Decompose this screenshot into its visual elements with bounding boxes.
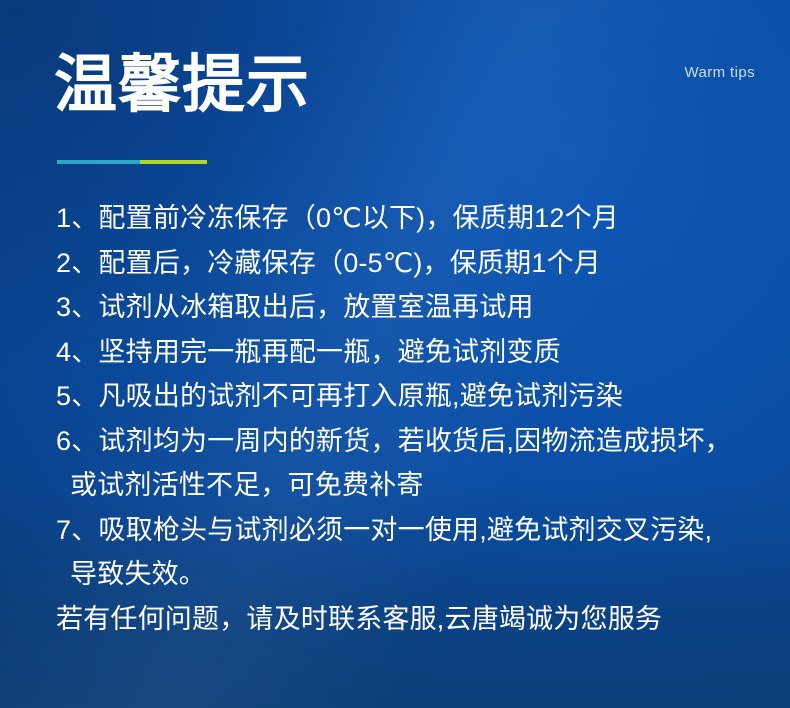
warm-tips-poster: 温馨提示 Warm tips 1、配置前冷冻保存（0℃以下)，保质期12个月 2… [0, 0, 790, 708]
tip-line: 1、配置前冷冻保存（0℃以下)，保质期12个月 [56, 196, 768, 241]
tips-list: 1、配置前冷冻保存（0℃以下)，保质期12个月 2、配置后，冷藏保存（0-5℃)… [56, 196, 768, 641]
tip-line-closing: 若有任何问题，请及时联系客服,云唐竭诚为您服务 [56, 597, 768, 642]
page-title: 温馨提示 [54, 52, 310, 118]
title-divider [57, 160, 207, 164]
divider-segment-teal [57, 160, 140, 164]
tip-line: 2、配置后，冷藏保存（0-5℃)，保质期1个月 [56, 241, 768, 286]
subtitle-warm-tips: Warm tips [684, 64, 755, 81]
tip-line: 5、凡吸出的试剂不可再打入原瓶,避免试剂污染 [56, 374, 768, 419]
tip-line-continuation: 或试剂活性不足，可免费补寄 [56, 463, 768, 508]
tip-line: 4、坚持用完一瓶再配一瓶，避免试剂变质 [56, 330, 768, 375]
tip-line-continuation: 导致失效。 [56, 552, 768, 597]
tip-line: 6、试剂均为一周内的新货，若收货后,因物流造成损坏， [56, 419, 768, 464]
poster-content: 温馨提示 Warm tips 1、配置前冷冻保存（0℃以下)，保质期12个月 2… [0, 0, 790, 708]
tip-line: 7、吸取枪头与试剂必须一对一使用,避免试剂交叉污染, [56, 508, 768, 553]
divider-segment-green [140, 160, 208, 164]
tip-line: 3、试剂从冰箱取出后，放置室温再试用 [56, 285, 768, 330]
